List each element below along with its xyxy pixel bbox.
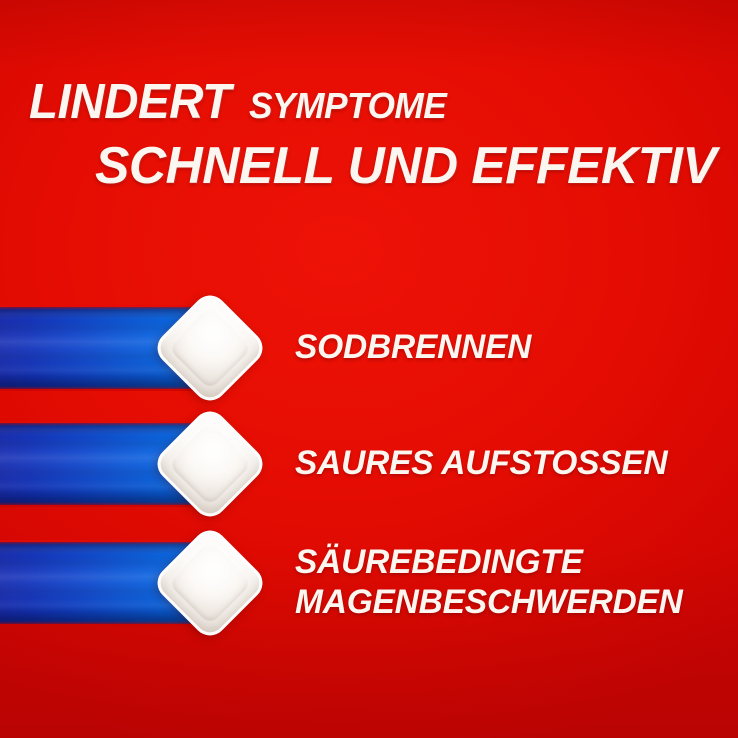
- symptom-label-1: SODBRENNEN: [295, 306, 535, 390]
- promo-poster: LINDERTSYMPTOME SCHNELL UND EFFEKTIV SOD…: [0, 0, 738, 738]
- symptom-label-2-line-1: SAURES AUFSTOSSEN: [295, 444, 668, 484]
- headline-line-2: SCHNELL UND EFFEKTIV: [0, 140, 738, 192]
- headline-block: LINDERTSYMPTOME SCHNELL UND EFFEKTIV: [0, 78, 738, 192]
- symptom-label-2: SAURES AUFSTOSSEN: [295, 422, 673, 506]
- symptom-label-3-line-1: SÄUREBEDINGTE: [295, 543, 683, 583]
- tablet-diamond-icon: [168, 541, 252, 625]
- tablet-diamond-shape: [151, 289, 270, 408]
- background-top-shade: [0, 0, 738, 70]
- tablet-diamond-shape: [151, 405, 270, 524]
- symptom-row-1: SODBRENNEN: [0, 306, 738, 390]
- headline-line-2-text: SCHNELL UND EFFEKTIV: [95, 140, 716, 192]
- symptom-label-3-line-2: MAGENBESCHWERDEN: [295, 583, 683, 623]
- headline-word-symptome: SYMPTOME: [249, 88, 446, 124]
- symptom-row-3: SÄUREBEDINGTE MAGENBESCHWERDEN: [0, 541, 738, 625]
- symptom-label-3: SÄUREBEDINGTE MAGENBESCHWERDEN: [295, 541, 688, 625]
- symptom-label-1-line-1: SODBRENNEN: [295, 328, 531, 368]
- tablet-diamond-shape: [151, 524, 270, 643]
- symptom-row-2: SAURES AUFSTOSSEN: [0, 422, 738, 506]
- tablet-diamond-icon: [168, 306, 252, 390]
- headline-word-lindert: LINDERT: [29, 78, 231, 127]
- headline-line-1: LINDERTSYMPTOME: [0, 78, 738, 127]
- tablet-diamond-icon: [168, 422, 252, 506]
